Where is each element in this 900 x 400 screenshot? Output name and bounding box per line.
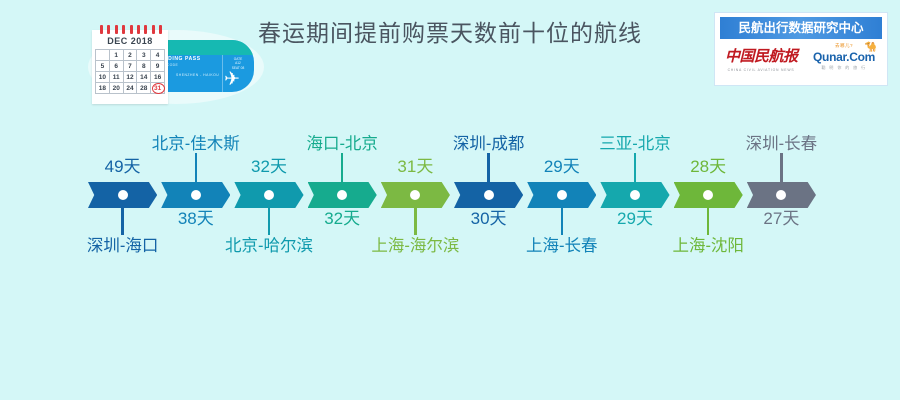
- calendar-week-row: 1234: [96, 50, 165, 61]
- route-marker-dot: [191, 190, 201, 200]
- calendar-grid: 12345678910111214161820242831: [95, 49, 165, 94]
- camel-icon: 🐪: [865, 43, 877, 53]
- route-chevron-chart: 深圳-海口49天北京-佳木斯38天北京-哈尔滨32天海口-北京32天上海-海尔滨…: [0, 110, 900, 290]
- route-connector-line: [121, 207, 124, 235]
- calendar-empty-cell: [96, 50, 110, 61]
- route-connector-line: [780, 153, 783, 183]
- calendar-boardingpass-illustration: BOARDING PASS TICKET CODE NAMEFROMTO SHE…: [86, 22, 266, 108]
- route-connector-line: [634, 153, 637, 183]
- qunar-logo: 🐪 去哪儿? Qunar.Com 聪 明 你 的 旅 行: [807, 43, 881, 71]
- calendar-day-cell: 18: [96, 83, 110, 94]
- calendar-day-cell: 9: [151, 61, 165, 72]
- calendar-ring: [115, 25, 118, 34]
- calendar-day-cell: 2: [123, 50, 137, 61]
- boarding-pass-divider: [222, 55, 223, 92]
- calendar-rings: [100, 25, 162, 33]
- calendar-ring: [107, 25, 110, 34]
- qunar-subtitle: 聪 明 你 的 旅 行: [807, 65, 881, 71]
- route-marker-dot: [630, 190, 640, 200]
- route-city-label: 深圳-长春: [691, 130, 871, 154]
- calendar-graphic: DEC 2018 12345678910111214161820242831: [92, 30, 168, 104]
- calendar-ring: [159, 25, 162, 34]
- route-connector-line: [268, 207, 271, 235]
- brand-title: 民航出行数据研究中心: [720, 17, 882, 39]
- cjan-logo-cn: 中国民航报: [725, 45, 797, 66]
- calendar-week-row: 1820242831: [96, 83, 165, 94]
- calendar-day-cell: 16: [151, 72, 165, 83]
- calendar-ring: [152, 25, 155, 34]
- calendar-day-cell: 1: [109, 50, 123, 61]
- calendar-day-cell: 12: [123, 72, 137, 83]
- route-connector-line: [195, 153, 198, 183]
- brand-logo-box: 民航出行数据研究中心 中国民航报 CHINA CIVIL AVIATION NE…: [714, 12, 888, 86]
- calendar-day-cell: 8: [137, 61, 151, 72]
- calendar-day-cell: 24: [123, 83, 137, 94]
- calendar-day-cell: 11: [109, 72, 123, 83]
- calendar-day-cell: 4: [151, 50, 165, 61]
- route-connector-line: [561, 207, 564, 235]
- boarding-pass-route-text: SHENZHEN - HAIKOU: [176, 73, 219, 77]
- calendar-ring: [100, 25, 103, 34]
- calendar-day-cell: 20: [109, 83, 123, 94]
- cjan-logo-en: CHINA CIVIL AVIATION NEWS: [725, 68, 797, 72]
- route-marker-dot: [264, 190, 274, 200]
- calendar-week-row: 1011121416: [96, 72, 165, 83]
- route-marker-dot: [557, 190, 567, 200]
- route-connector-line: [487, 153, 490, 183]
- china-civil-aviation-news-logo: 中国民航报 CHINA CIVIL AVIATION NEWS: [725, 45, 797, 72]
- calendar-day-cell: 6: [109, 61, 123, 72]
- calendar-day-cell: 5: [96, 61, 110, 72]
- calendar-week-row: 56789: [96, 61, 165, 72]
- route-marker-dot: [118, 190, 128, 200]
- calendar-day-cell: 14: [137, 72, 151, 83]
- route-connector-line: [414, 207, 417, 235]
- calendar-day-cell: 10: [96, 72, 110, 83]
- calendar-month-label: DEC 2018: [92, 36, 168, 46]
- calendar-day-cell: 7: [123, 61, 137, 72]
- calendar-ring: [137, 25, 140, 34]
- calendar-ring: [122, 25, 125, 34]
- calendar-day-cell: 3: [137, 50, 151, 61]
- airplane-icon: ✈: [224, 70, 240, 89]
- calendar-ring: [130, 25, 133, 34]
- calendar-day-cell: 28: [137, 83, 151, 94]
- route-connector-line: [341, 153, 344, 183]
- calendar-day-cell: 31: [151, 83, 165, 94]
- calendar-ring: [144, 25, 147, 34]
- route-connector-line: [707, 207, 710, 235]
- route-marker-dot: [484, 190, 494, 200]
- brand-logos: 中国民航报 CHINA CIVIL AVIATION NEWS 🐪 去哪儿? Q…: [715, 39, 887, 81]
- route-days-label: 27天: [721, 204, 841, 229]
